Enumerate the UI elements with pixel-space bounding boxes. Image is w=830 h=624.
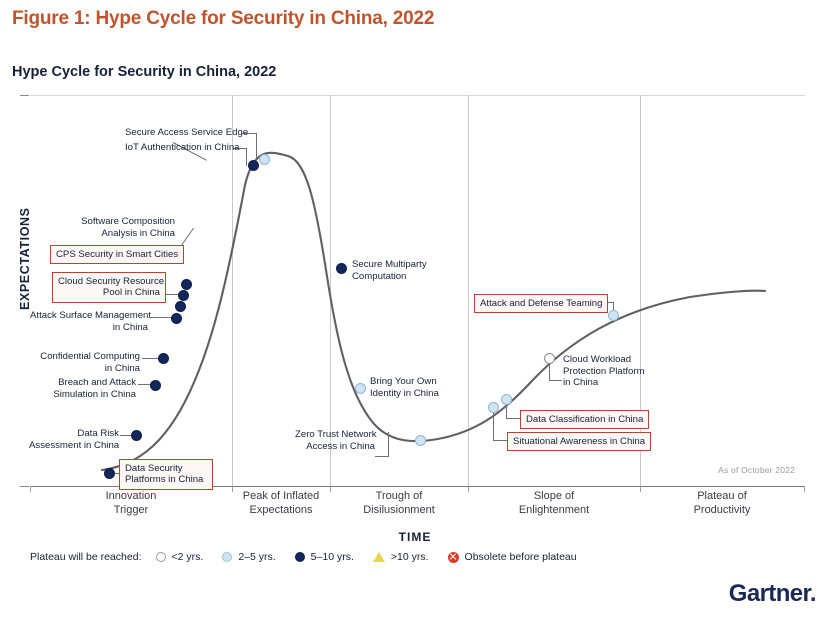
phase-sep-5 <box>804 486 805 492</box>
phase-slope-line1: Slope of <box>468 490 640 504</box>
label-confidential-computing[interactable]: Confidential Computingin China <box>40 351 140 374</box>
label-text-confidential-computing: Confidential Computingin China <box>40 351 140 374</box>
figure-title: Figure 1: Hype Cycle for Security in Chi… <box>12 8 434 30</box>
as-of-date: As of October 2022 <box>718 465 795 475</box>
label-text-iot-auth: IoT Authentication in China <box>125 142 240 153</box>
dot-software-composition-analysis[interactable] <box>181 279 192 290</box>
triangle-yellow-icon <box>373 552 385 562</box>
label-iot-authentication[interactable]: IoT Authentication in China <box>125 142 233 154</box>
leader-data-classification-horiz <box>506 418 520 419</box>
label-data-security-platforms[interactable]: Data SecurityPlatforms in China <box>119 459 213 490</box>
x-axis-label: TIME <box>0 530 830 544</box>
phase-plateau-of-productivity: Plateau of Productivity <box>640 490 804 517</box>
circle-red-x-icon <box>448 552 459 563</box>
leader-ztna <box>388 432 389 456</box>
phase-plateau-line1: Plateau of <box>640 490 804 504</box>
dot-bring-your-own-identity[interactable] <box>355 383 366 394</box>
phase-trough-line2: Disilusionment <box>330 504 468 518</box>
legend-item-2to5yrs[interactable]: 2–5 yrs. <box>222 551 275 563</box>
legend-label-obsolete: Obsolete before plateau <box>465 551 577 563</box>
phase-peak-line1: Peak of Inflated <box>232 490 330 504</box>
hype-cycle-plot: EXPECTATIONS <box>30 95 805 487</box>
legend-label-gt10yrs: >10 yrs. <box>391 551 429 563</box>
dot-cloud-workload-protection-platform[interactable] <box>544 353 555 364</box>
label-text-data-risk: Data RiskAssessment in China <box>29 428 119 451</box>
legend-label-5to10yrs: 5–10 yrs. <box>311 551 354 563</box>
dot-secure-access-service-edge[interactable] <box>259 154 270 165</box>
label-text-data-classification: Data Classification in China <box>526 414 643 425</box>
phase-slope-of-enlightenment: Slope of Enlightenment <box>468 490 640 517</box>
phase-axis: Innovation Trigger Peak of Inflated Expe… <box>30 490 805 526</box>
leader-iot-auth <box>246 148 247 166</box>
phase-slope-line2: Enlightenment <box>468 504 640 518</box>
phase-innovation-trigger: Innovation Trigger <box>30 490 232 517</box>
dot-breach-attack-simulation[interactable] <box>150 380 161 391</box>
dot-cps-security-smart-cities[interactable] <box>178 290 189 301</box>
leader-ztna-horiz <box>375 456 389 457</box>
legend-title: Plateau will be reached: <box>30 551 142 563</box>
label-text-cps-security: CPS Security in Smart Cities <box>56 249 178 260</box>
leader-cwpp-horiz <box>549 380 562 381</box>
label-zero-trust-network-access[interactable]: Zero Trust NetworkAccess in China <box>295 429 375 452</box>
label-secure-access-service-edge[interactable]: Secure Access Service Edge <box>125 127 243 139</box>
phase-peak-line2: Expectations <box>232 504 330 518</box>
label-text-cwpp: Cloud WorkloadProtection Platformin Chin… <box>563 354 645 389</box>
dot-attack-surface-management[interactable] <box>171 313 182 324</box>
legend-item-5to10yrs[interactable]: 5–10 yrs. <box>295 551 354 563</box>
legend-item-obsolete[interactable]: Obsolete before plateau <box>448 551 577 563</box>
label-cloud-security-resource-pool[interactable]: Cloud Security ResourcePool in China <box>52 272 166 303</box>
label-text-attack-surface: Attack Surface Managementin China <box>30 310 148 333</box>
label-situational-awareness[interactable]: Situational Awareness in China <box>507 432 651 451</box>
legend-label-lt2yrs: <2 yrs. <box>172 551 204 563</box>
label-text-data-security-platforms: Data SecurityPlatforms in China <box>125 463 207 486</box>
dot-iot-authentication[interactable] <box>248 160 259 171</box>
dot-attack-and-defense-teaming[interactable] <box>608 310 619 321</box>
label-secure-multiparty-computation[interactable]: Secure MultipartyComputation <box>352 259 427 282</box>
y-axis-tick-top <box>20 95 29 96</box>
gartner-logo: Gartner. <box>729 580 816 608</box>
dot-confidential-computing[interactable] <box>158 353 169 364</box>
label-breach-attack-simulation[interactable]: Breach and AttackSimulation in China <box>38 377 136 400</box>
label-text-software-composition: Software CompositionAnalysis in China <box>70 216 175 239</box>
phase-innovation-trigger-line1: Innovation <box>30 490 232 504</box>
dot-situational-awareness[interactable] <box>488 402 499 413</box>
label-data-risk-assessment[interactable]: Data RiskAssessment in China <box>29 428 119 451</box>
circle-white-icon <box>156 552 166 562</box>
leader-situational-awareness-horiz <box>493 440 507 441</box>
label-text-attack-defense: Attack and Defense Teaming <box>480 298 602 309</box>
phase-peak-of-inflated-expectations: Peak of Inflated Expectations <box>232 490 330 517</box>
label-text-secure-multiparty: Secure MultipartyComputation <box>352 259 427 282</box>
dot-secure-multiparty-computation[interactable] <box>336 263 347 274</box>
dot-data-security-platforms[interactable] <box>104 468 115 479</box>
dot-cloud-security-resource-pool[interactable] <box>175 301 186 312</box>
label-data-classification[interactable]: Data Classification in China <box>520 410 649 429</box>
label-attack-and-defense-teaming[interactable]: Attack and Defense Teaming <box>474 294 608 313</box>
legend-item-lt2yrs[interactable]: <2 yrs. <box>156 551 204 563</box>
label-cloud-workload-protection-platform[interactable]: Cloud WorkloadProtection Platformin Chin… <box>563 354 645 389</box>
label-text-breach-attack: Breach and AttackSimulation in China <box>38 377 136 400</box>
phase-plateau-line2: Productivity <box>640 504 804 518</box>
phase-trough-of-disillusionment: Trough of Disilusionment <box>330 490 468 517</box>
label-cps-security-smart-cities[interactable]: CPS Security in Smart Cities <box>50 245 184 264</box>
label-text-situational-awareness: Situational Awareness in China <box>513 436 645 447</box>
label-bring-your-own-identity[interactable]: Bring Your OwnIdentity in China <box>370 376 439 399</box>
leader-sase <box>256 133 257 159</box>
dot-data-classification[interactable] <box>501 394 512 405</box>
label-attack-surface-management[interactable]: Attack Surface Managementin China <box>30 310 148 333</box>
label-text-sase: Secure Access Service Edge <box>125 127 248 138</box>
legend-label-2to5yrs: 2–5 yrs. <box>238 551 275 563</box>
label-text-cloud-security-pool: Cloud Security ResourcePool in China <box>58 276 160 299</box>
circle-navy-icon <box>295 552 305 562</box>
gartner-wordmark: Gartner <box>729 580 810 607</box>
gartner-dot: . <box>810 580 816 607</box>
circle-lightblue-icon <box>222 552 232 562</box>
y-axis-tick-bottom <box>20 486 29 487</box>
label-text-ztna: Zero Trust NetworkAccess in China <box>295 429 375 452</box>
chart-title: Hype Cycle for Security in China, 2022 <box>12 64 276 80</box>
phase-trough-line1: Trough of <box>330 490 468 504</box>
label-software-composition-analysis[interactable]: Software Composition Analysis in China S… <box>70 216 175 239</box>
phase-innovation-trigger-line2: Trigger <box>30 504 232 518</box>
dot-data-risk-assessment[interactable] <box>131 430 142 441</box>
label-text-byoi: Bring Your OwnIdentity in China <box>370 376 439 399</box>
legend-item-gt10yrs[interactable]: >10 yrs. <box>373 551 429 563</box>
dot-zero-trust-network-access[interactable] <box>415 435 426 446</box>
legend: Plateau will be reached: <2 yrs. 2–5 yrs… <box>30 551 596 563</box>
